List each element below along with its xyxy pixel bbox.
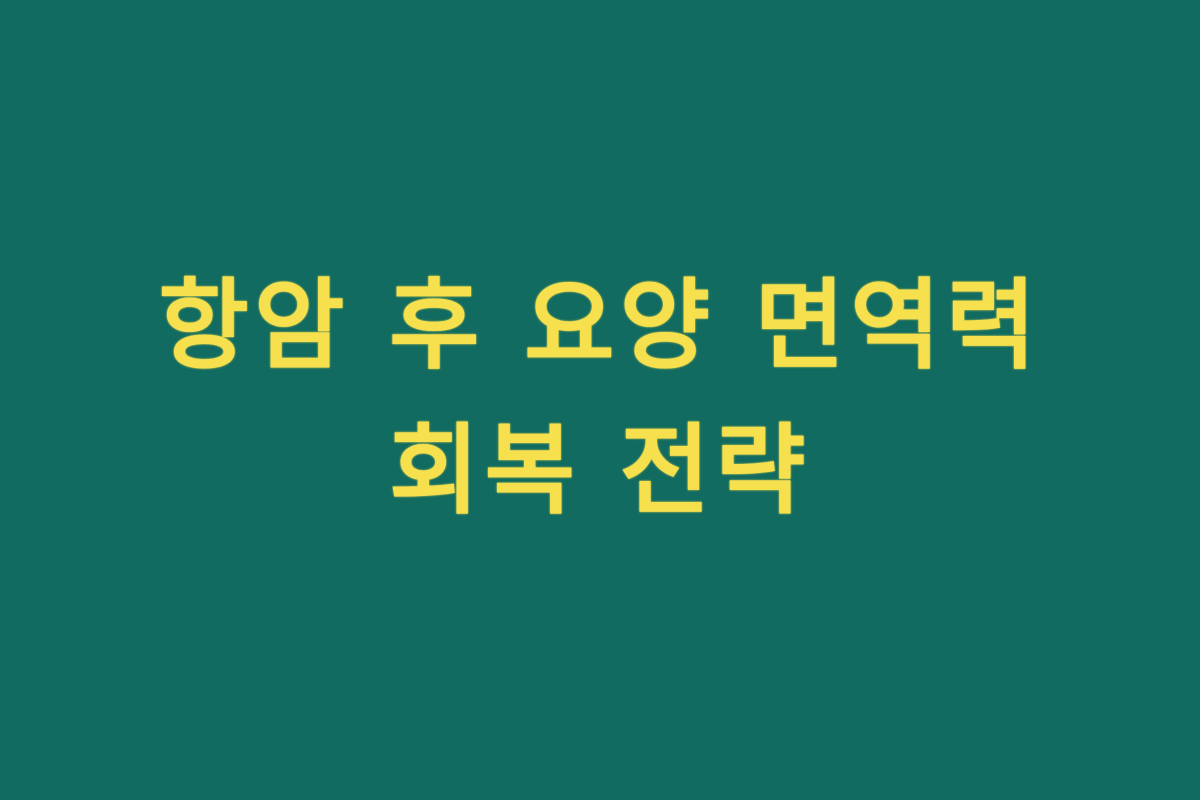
title-card: 항암 후 요양 면역력 회복 전략 xyxy=(0,0,1200,800)
page-title: 항암 후 요양 면역력 회복 전략 xyxy=(95,254,1105,544)
